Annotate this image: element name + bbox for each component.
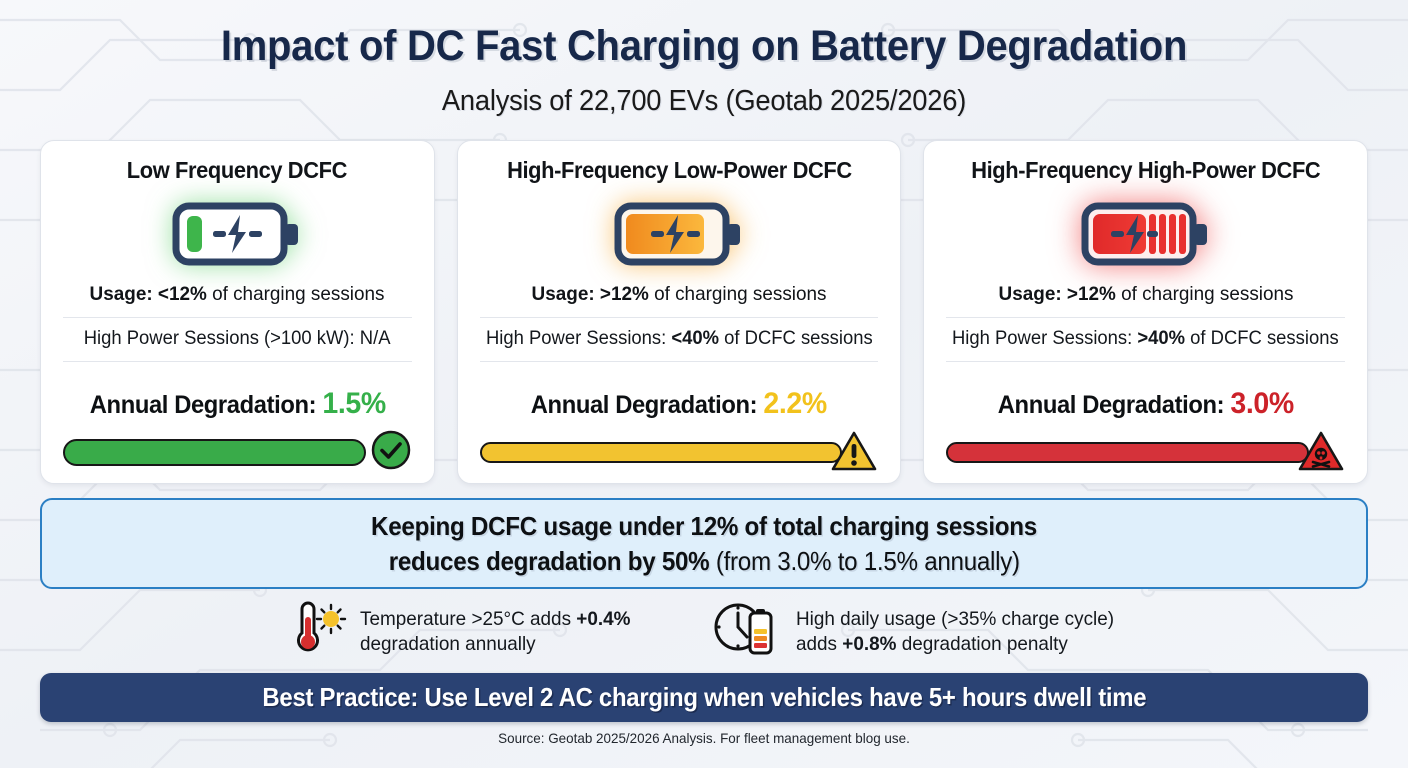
high-power-suffix: of DCFC sessions: [719, 328, 873, 349]
usage-value: >12%: [600, 283, 649, 305]
high-power-line: High Power Sessions (>100 kW): N/A: [84, 328, 391, 350]
usage-value: <12%: [158, 283, 207, 305]
usage-suffix: of charging sessions: [207, 283, 385, 305]
divider: [480, 361, 879, 362]
degradation-line: Annual Degradation: 3.0%: [998, 387, 1294, 421]
usage-label: Usage:: [998, 283, 1061, 305]
callout-line-1: Keeping DCFC usage under 12% of total ch…: [371, 511, 1037, 542]
temperature-note-text: Temperature >25°C adds +0.4% degradation…: [360, 607, 630, 656]
high-power-line: High Power Sessions: <40% of DCFC sessio…: [486, 328, 873, 350]
header: Impact of DC Fast Charging on Battery De…: [0, 0, 1408, 118]
battery-green-low-icon: [172, 198, 302, 271]
degradation-bar: [63, 439, 366, 466]
card-title: Low Frequency DCFC: [127, 157, 347, 184]
usage-value: >12%: [1067, 283, 1116, 305]
daily-usage-note: High daily usage (>35% charge cycle) add…: [712, 601, 1124, 662]
high-power-text: High Power Sessions (>100 kW): N/A: [84, 328, 391, 349]
check-circle-icon: [370, 429, 412, 476]
divider: [946, 361, 1345, 362]
battery-red-hot-icon: [1081, 198, 1211, 271]
divider: [480, 317, 879, 318]
degradation-bar: [946, 442, 1309, 463]
warning-triangle-icon: [830, 429, 878, 478]
divider: [946, 317, 1345, 318]
skull-triangle-icon: [1297, 429, 1345, 478]
high-power-value: <40%: [671, 328, 719, 349]
page-title: Impact of DC Fast Charging on Battery De…: [49, 22, 1358, 71]
battery-orange-full-icon: [614, 198, 744, 271]
degradation-bar: [480, 442, 843, 463]
source-line: Source: Geotab 2025/2026 Analysis. For f…: [28, 730, 1380, 746]
usage-label: Usage:: [532, 283, 595, 305]
callout-line-2: reduces degradation by 50% (from 3.0% to…: [388, 546, 1019, 577]
callout-line-2-bold: reduces degradation by 50%: [388, 546, 709, 576]
cards-row: Low Frequency DCFC Usage: <12% of chargi…: [0, 118, 1408, 484]
page-subtitle: Analysis of 22,700 EVs (Geotab 2025/2026…: [42, 85, 1366, 118]
daily-usage-note-text: High daily usage (>35% charge cycle) add…: [796, 607, 1114, 656]
usage-suffix: of charging sessions: [1115, 283, 1293, 305]
best-practice-text: Best Practice: Use Level 2 AC charging w…: [262, 682, 1146, 713]
best-practice-bar: Best Practice: Use Level 2 AC charging w…: [40, 673, 1368, 722]
card-low-frequency[interactable]: Low Frequency DCFC Usage: <12% of chargi…: [40, 140, 435, 484]
high-power-prefix: High Power Sessions:: [486, 328, 671, 349]
daily-usage-note-suffix: degradation penalty: [897, 633, 1068, 655]
card-title: High-Frequency Low-Power DCFC: [507, 157, 852, 184]
infographic-page: Impact of DC Fast Charging on Battery De…: [0, 0, 1408, 768]
high-power-value: >40%: [1138, 328, 1186, 349]
divider: [63, 361, 412, 362]
temperature-note-line2: degradation annually: [360, 632, 630, 656]
divider: [63, 317, 412, 318]
card-title: High-Frequency High-Power DCFC: [971, 157, 1320, 184]
degradation-label: Annual Degradation:: [998, 391, 1231, 419]
daily-usage-note-value: +0.8%: [843, 633, 897, 655]
high-power-prefix: High Power Sessions:: [952, 328, 1137, 349]
degradation-line: Annual Degradation: 1.5%: [89, 387, 385, 421]
callout-line-2-light: (from 3.0% to 1.5% annually): [709, 546, 1019, 576]
degradation-bar-row: [480, 435, 879, 469]
temperature-note-value: +0.4%: [576, 608, 630, 630]
usage-line: Usage: >12% of charging sessions: [998, 283, 1293, 306]
degradation-bar-row: [63, 435, 412, 469]
thermometer-sun-icon: [284, 601, 348, 662]
degradation-value: 2.2%: [764, 387, 827, 420]
degradation-bar-row: [946, 435, 1345, 469]
degradation-value: 1.5%: [322, 387, 385, 420]
usage-line: Usage: <12% of charging sessions: [90, 283, 385, 306]
key-insight-callout: Keeping DCFC usage under 12% of total ch…: [40, 498, 1368, 589]
high-power-line: High Power Sessions: >40% of DCFC sessio…: [952, 328, 1339, 350]
degradation-label: Annual Degradation:: [531, 391, 764, 419]
degradation-label: Annual Degradation:: [89, 391, 322, 419]
usage-label: Usage:: [90, 283, 153, 305]
high-power-suffix: of DCFC sessions: [1185, 328, 1339, 349]
card-high-freq-high-power[interactable]: High-Frequency High-Power DCFC: [923, 140, 1368, 484]
temperature-note: Temperature >25°C adds +0.4% degradation…: [284, 601, 639, 662]
notes-row: Temperature >25°C adds +0.4% degradation…: [0, 601, 1408, 662]
usage-suffix: of charging sessions: [649, 283, 827, 305]
card-high-freq-low-power[interactable]: High-Frequency Low-Power DCFC: [457, 140, 902, 484]
degradation-line: Annual Degradation: 2.2%: [531, 387, 827, 421]
clock-battery-icon: [712, 601, 784, 662]
daily-usage-note-line1: High daily usage (>35% charge cycle): [796, 607, 1114, 631]
usage-line: Usage: >12% of charging sessions: [532, 283, 827, 306]
temperature-note-prefix: Temperature >25°C adds: [360, 608, 576, 630]
callout-line-1-text: Keeping DCFC usage under 12% of total ch…: [371, 511, 1037, 541]
daily-usage-note-prefix: adds: [796, 633, 842, 655]
degradation-value: 3.0%: [1230, 387, 1293, 420]
